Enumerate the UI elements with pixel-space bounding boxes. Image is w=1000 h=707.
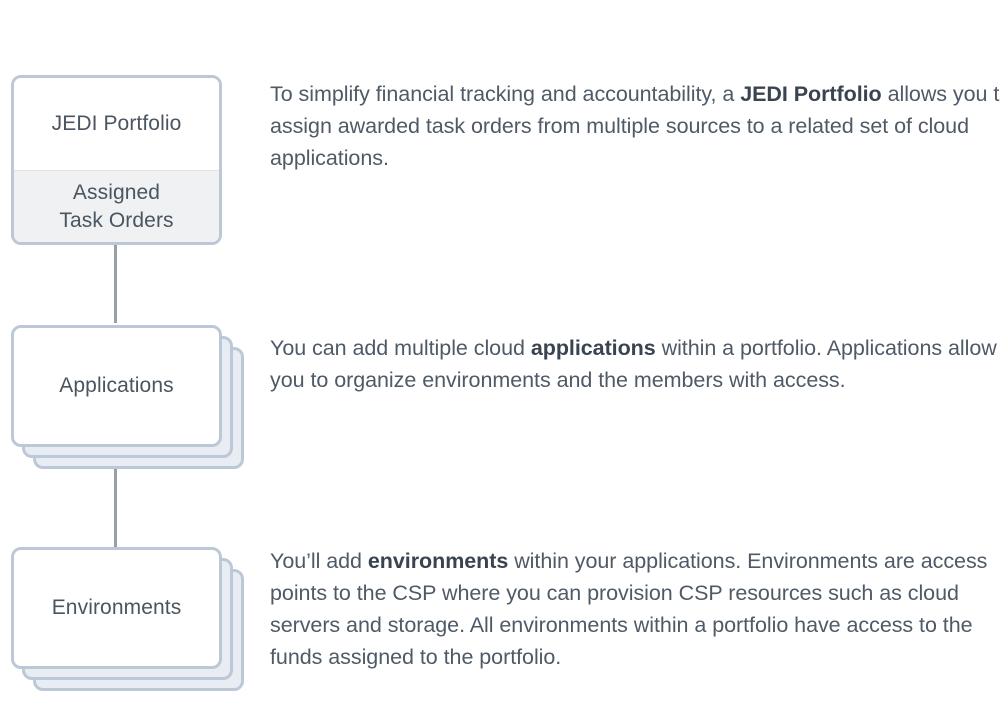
node-jedi-portfolio[interactable]: JEDI Portfolio Assigned Task Orders [11, 75, 222, 245]
body-text: You can add multiple cloud [270, 336, 531, 360]
portfolio-card-header: JEDI Portfolio [14, 78, 219, 171]
connector-applications-to-environments [114, 468, 117, 550]
description-jedi-portfolio: To simplify financial tracking and accou… [270, 78, 1000, 174]
portfolio-card: JEDI Portfolio Assigned Task Orders [11, 75, 222, 245]
connector-portfolio-to-applications [114, 245, 117, 323]
body-text: You’ll add [270, 549, 368, 573]
emphasis-text: JEDI Portfolio [740, 82, 881, 106]
emphasis-text: applications [531, 336, 656, 360]
environments-label: Environments [52, 594, 182, 622]
diagram-canvas: JEDI Portfolio Assigned Task Orders Appl… [0, 0, 1000, 707]
applications-card-body: Applications [14, 328, 219, 444]
node-environments[interactable]: Environments [0, 547, 240, 699]
applications-label: Applications [59, 372, 173, 400]
applications-card: Applications [11, 325, 222, 447]
node-applications[interactable]: Applications [0, 325, 240, 475]
body-text: To simplify financial tracking and accou… [270, 82, 740, 106]
emphasis-text: environments [368, 549, 508, 573]
environments-card: Environments [11, 547, 222, 669]
description-applications: You can add multiple cloud applications … [270, 332, 1000, 396]
description-environments: You’ll add environments within your appl… [270, 545, 1000, 673]
environments-card-body: Environments [14, 550, 219, 666]
portfolio-card-subpanel: Assigned Task Orders [14, 171, 219, 242]
portfolio-label: JEDI Portfolio [52, 110, 182, 138]
assigned-task-orders-label: Assigned Task Orders [59, 179, 173, 235]
